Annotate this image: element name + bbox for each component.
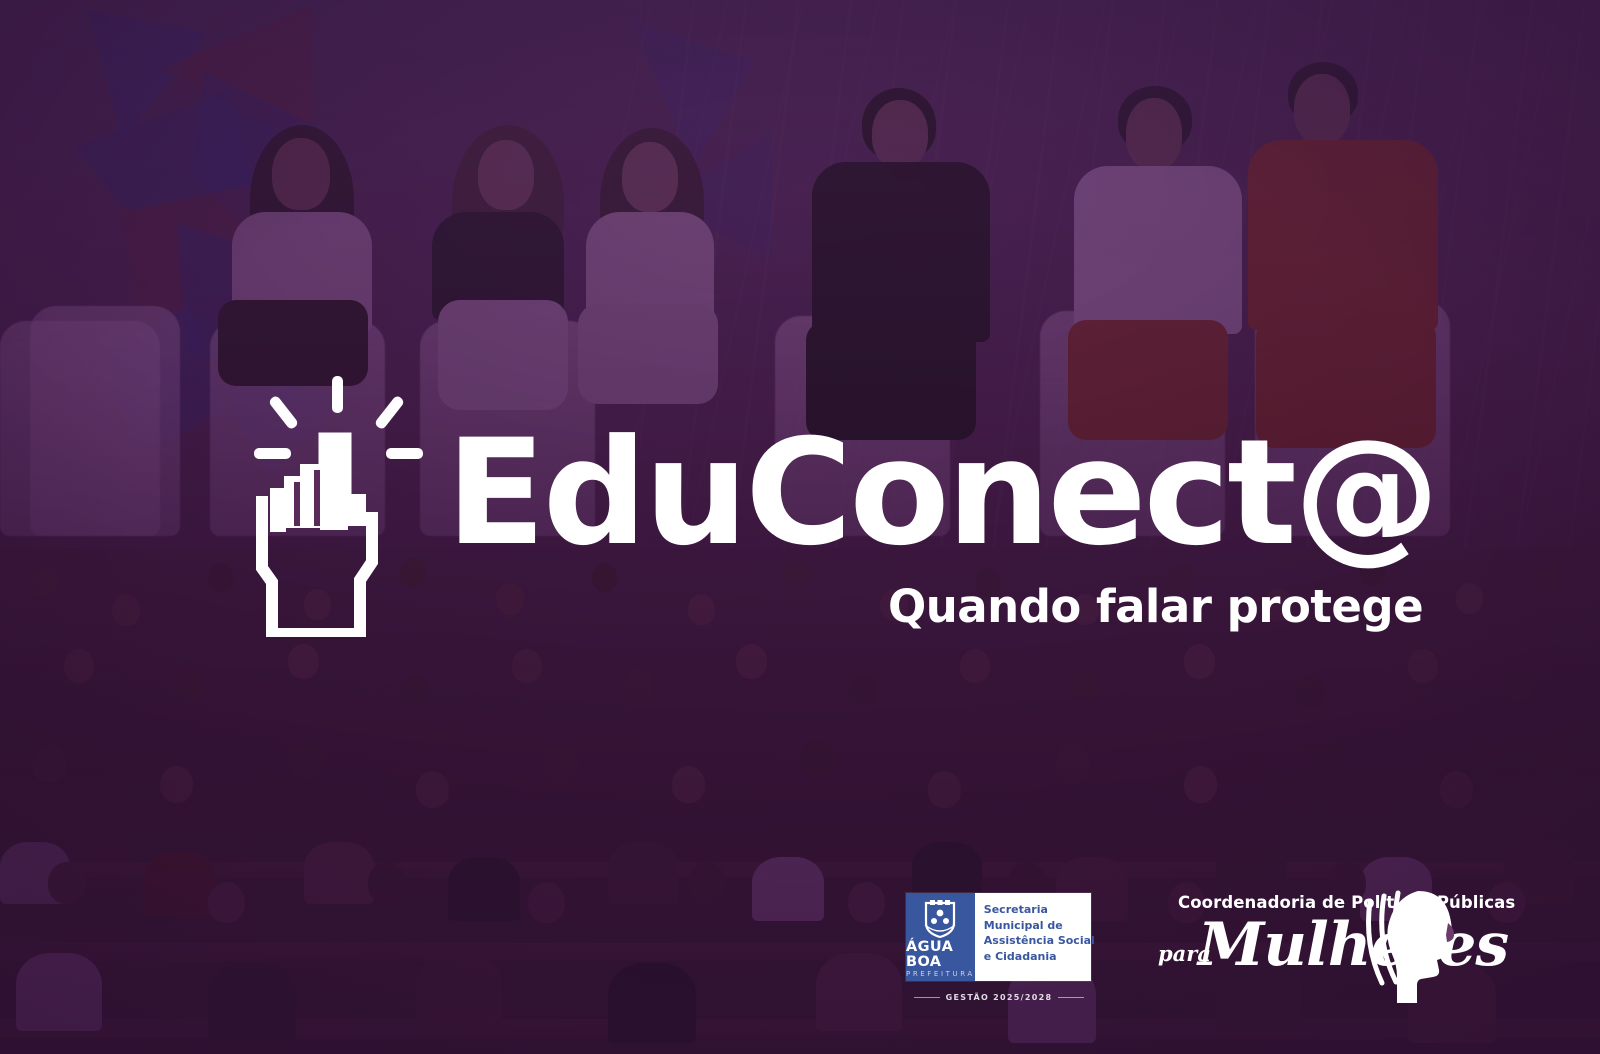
brand-lockup: EduConect@ Quando falar protege — [248, 372, 1358, 640]
aguaboa-prefeitura-logo: ÁGUA BOA PREFEITURA Secretaria Municipal… — [906, 893, 1091, 981]
poster-canvas: EduConect@ Quando falar protege ÁGUA BOA… — [0, 0, 1600, 1054]
secretaria-text-block: Secretaria Municipal de Assistência Soci… — [975, 893, 1100, 981]
secretaria-line: Assistência Social — [984, 933, 1095, 949]
coordenadoria-mulheres-logo: Coordenadoria de Políticas Públicas para… — [1136, 885, 1466, 1005]
secretaria-line: Secretaria — [984, 902, 1095, 918]
gestao-period: GESTÃO 2025/2028 — [914, 993, 1084, 1002]
gestao-label: GESTÃO 2025/2028 — [946, 993, 1053, 1002]
brand-title: EduConect@ — [446, 420, 1437, 566]
aguaboa-crest-block: ÁGUA BOA PREFEITURA — [906, 893, 975, 981]
brand-tagline: Quando falar protege — [888, 584, 1423, 629]
coat-of-arms-shield-icon — [922, 899, 958, 939]
footer-logo-group: ÁGUA BOA PREFEITURA Secretaria Municipal… — [906, 893, 1466, 1018]
aguaboa-city-name: ÁGUA BOA — [906, 940, 975, 969]
gestao-rule-left — [914, 997, 940, 998]
aguaboa-entity-label: PREFEITURA — [906, 971, 975, 978]
secretaria-line: e Cidadania — [984, 949, 1095, 965]
pixel-hand-click-icon — [248, 372, 448, 637]
woman-profile-silhouette-icon — [1360, 883, 1472, 1005]
secretaria-line: Municipal de — [984, 918, 1095, 934]
gestao-rule-right — [1058, 997, 1084, 998]
